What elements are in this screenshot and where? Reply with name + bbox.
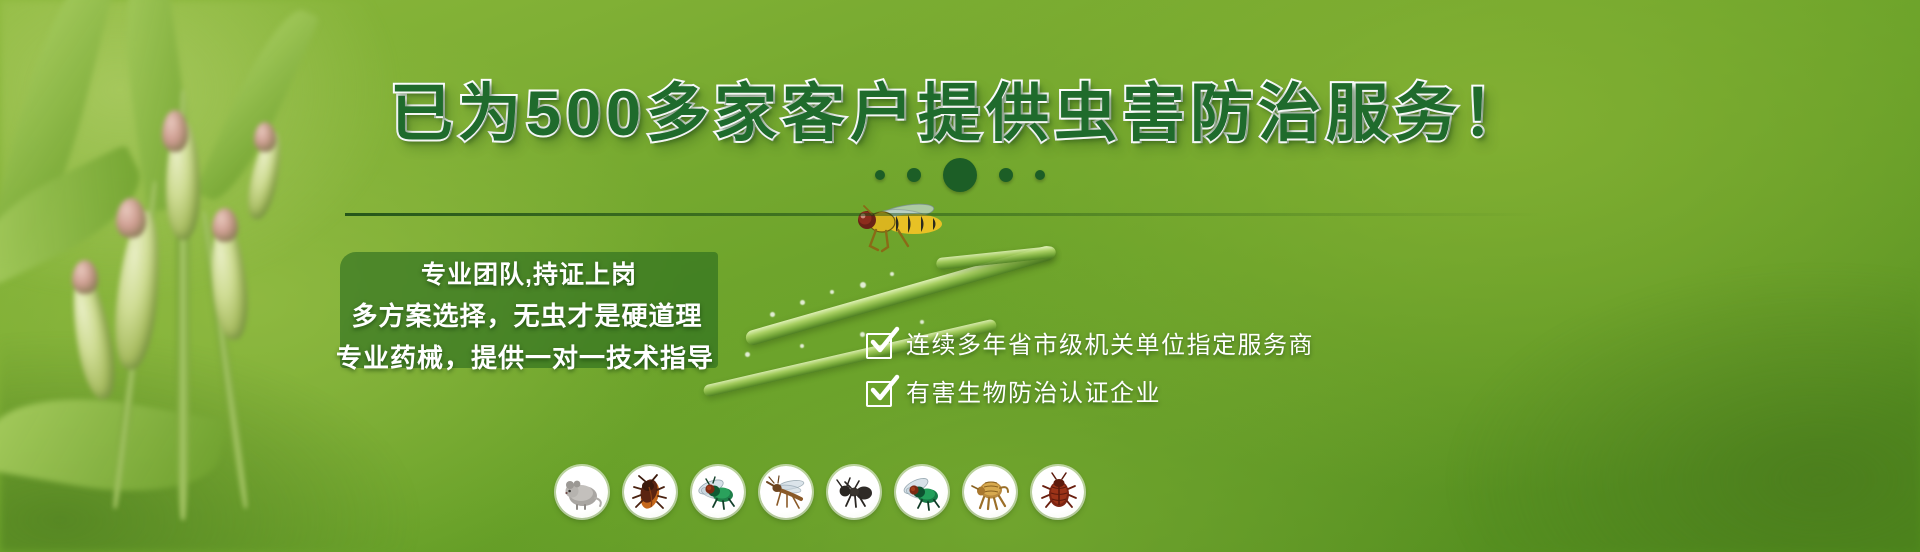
pest-icon-bedbug[interactable] <box>1032 466 1084 518</box>
decor-dot-small <box>875 170 885 180</box>
pest-control-banner: 已为500多家客户提供虫害防治服务！ 专业团队,持证上岗 多方案选择，无虫才是硬… <box>0 0 1920 552</box>
decor-dot-medium <box>907 168 921 182</box>
pest-icon-mouse[interactable] <box>556 466 608 518</box>
checklist-item: 连续多年省市级机关单位指定服务商 <box>866 332 1314 360</box>
selling-point-line-2: 多方案选择，无虫才是硬道理 <box>351 298 702 334</box>
hoverfly-icon <box>852 196 952 256</box>
pest-icon-greenfly[interactable] <box>896 466 948 518</box>
decorative-dots <box>0 158 1920 192</box>
pest-icon-housefly[interactable] <box>692 466 744 518</box>
pest-icon-ant[interactable] <box>828 466 880 518</box>
checkbox-checked-icon <box>866 381 892 407</box>
checkbox-checked-icon <box>866 333 892 359</box>
decor-dot-medium <box>999 168 1013 182</box>
bedbug-icon <box>1037 471 1079 513</box>
banner-headline: 已为500多家客户提供虫害防治服务！ <box>0 78 1920 150</box>
cockroach-icon <box>629 471 671 513</box>
mosquito-icon <box>765 471 807 513</box>
mouse-icon <box>561 471 603 513</box>
pest-icon-mosquito[interactable] <box>760 466 812 518</box>
checklist-item-label: 连续多年省市级机关单位指定服务商 <box>906 332 1314 360</box>
housefly-icon <box>697 471 739 513</box>
horizontal-divider <box>345 213 1545 216</box>
checklist-item-label: 有害生物防治认证企业 <box>906 380 1161 408</box>
selling-point-line-3: 专业药械，提供一对一技术指导 <box>336 340 714 376</box>
ant-icon <box>833 471 875 513</box>
credentials-checklist: 连续多年省市级机关单位指定服务商 有害生物防治认证企业 <box>866 332 1314 408</box>
selling-points-text: 专业团队,持证上岗 多方案选择，无虫才是硬道理 专业药械，提供一对一技术指导 <box>340 258 718 376</box>
banner-headline-text: 已为500多家客户提供虫害防治服务！ <box>390 79 1530 149</box>
selling-point-line-1: 专业团队,持证上岗 <box>421 258 637 292</box>
pest-icon-row <box>556 466 1084 518</box>
decor-dot-small <box>1035 170 1045 180</box>
decor-dot-large <box>943 158 977 192</box>
flea-icon <box>969 471 1011 513</box>
pest-icon-cockroach[interactable] <box>624 466 676 518</box>
checklist-item: 有害生物防治认证企业 <box>866 380 1314 408</box>
pest-icon-flea[interactable] <box>964 466 1016 518</box>
greenfly-icon <box>901 471 943 513</box>
